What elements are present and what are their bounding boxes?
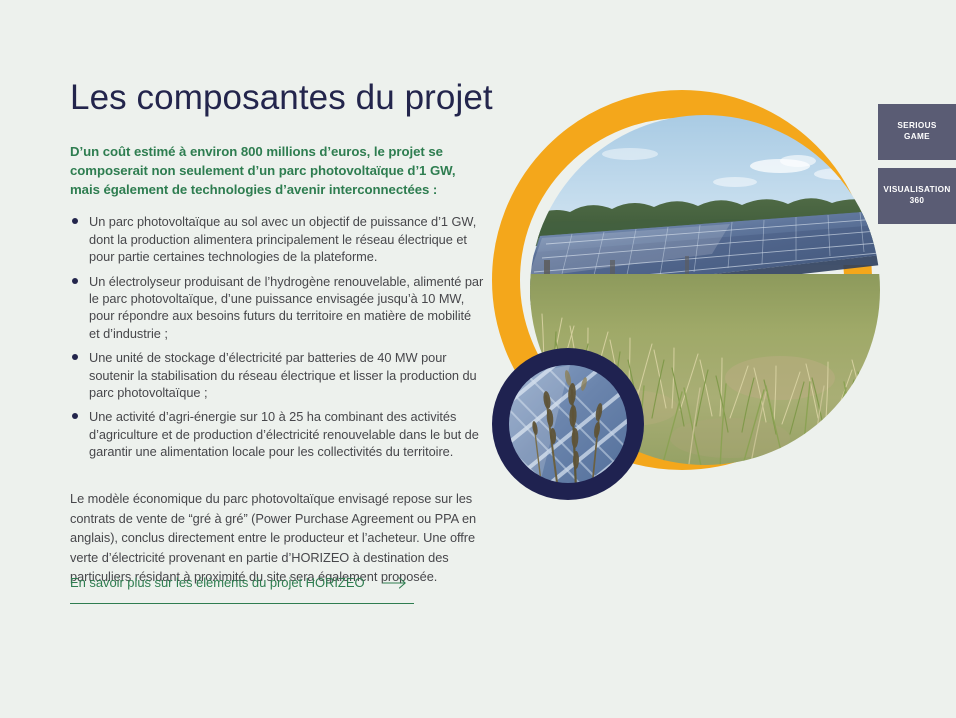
bullet-dot-icon	[72, 354, 78, 360]
list-item: Un parc photovoltaïque au sol avec un ob…	[70, 213, 485, 265]
bullet-dot-icon	[72, 413, 78, 419]
side-tab-group: SERIOUS GAME VISUALISATION 360	[878, 104, 956, 224]
side-tab-serious-game[interactable]: SERIOUS GAME	[878, 104, 956, 160]
imagery-svg	[480, 78, 890, 508]
list-item-label: Une unité de stockage d’électricité par …	[89, 350, 477, 400]
intro-paragraph: D’un coût estimé à environ 800 millions …	[70, 143, 485, 199]
components-list: Un parc photovoltaïque au sol avec un ob…	[70, 213, 485, 460]
bullet-dot-icon	[72, 278, 78, 284]
bullet-dot-icon	[72, 218, 78, 224]
side-tab-visualisation-360[interactable]: VISUALISATION 360	[878, 168, 956, 224]
text-column: Les composantes du projet D’un coût esti…	[70, 78, 485, 587]
list-item: Un électrolyseur produisant de l’hydrogè…	[70, 273, 485, 343]
list-item-label: Un parc photovoltaïque au sol avec un ob…	[89, 214, 476, 264]
page-title: Les composantes du projet	[70, 78, 485, 117]
arrow-right-icon	[382, 577, 408, 589]
list-item-label: Un électrolyseur produisant de l’hydrogè…	[89, 274, 483, 341]
list-item: Une activité d’agri-énergie sur 10 à 25 …	[70, 408, 485, 460]
learn-more-label: En savoir plus sur les éléments du proje…	[70, 575, 365, 590]
list-item: Une unité de stockage d’électricité par …	[70, 349, 485, 401]
economic-model-paragraph: Le modèle économique du parc photovoltaï…	[70, 489, 482, 586]
list-item-label: Une activité d’agri-énergie sur 10 à 25 …	[89, 409, 479, 459]
learn-more-link[interactable]: En savoir plus sur les éléments du proje…	[70, 575, 414, 604]
project-imagery	[480, 78, 890, 508]
slide-root: Les composantes du projet D’un coût esti…	[0, 0, 956, 718]
